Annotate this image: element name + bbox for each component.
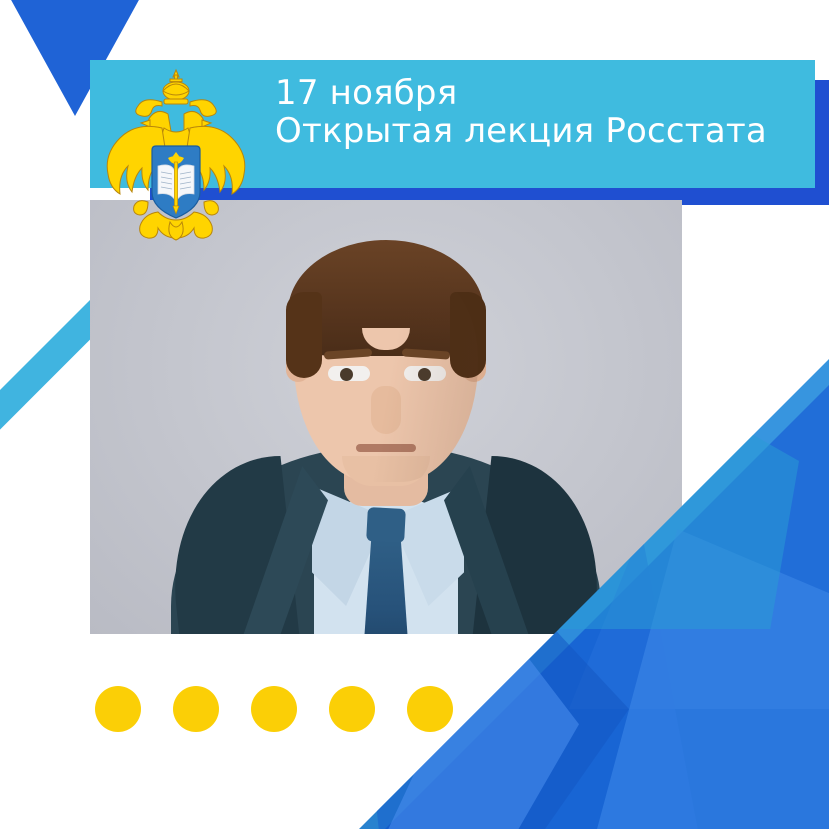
dot-4	[329, 686, 375, 732]
dot-1	[95, 686, 141, 732]
poster-canvas: 17 ноября Открытая лекция Росстата	[0, 0, 829, 829]
dot-2	[173, 686, 219, 732]
dot-3	[251, 686, 297, 732]
rosstat-coat-of-arms-icon	[96, 62, 256, 262]
banner-text-group: 17 ноября Открытая лекция Росстата	[275, 74, 810, 150]
event-date: 17 ноября	[275, 74, 810, 112]
dot-row	[95, 686, 453, 732]
face-shading	[294, 254, 478, 482]
necktie-knot	[366, 507, 406, 543]
dot-5	[407, 686, 453, 732]
event-title: Открытая лекция Росстата	[275, 112, 810, 150]
speaker-photo	[90, 200, 682, 634]
